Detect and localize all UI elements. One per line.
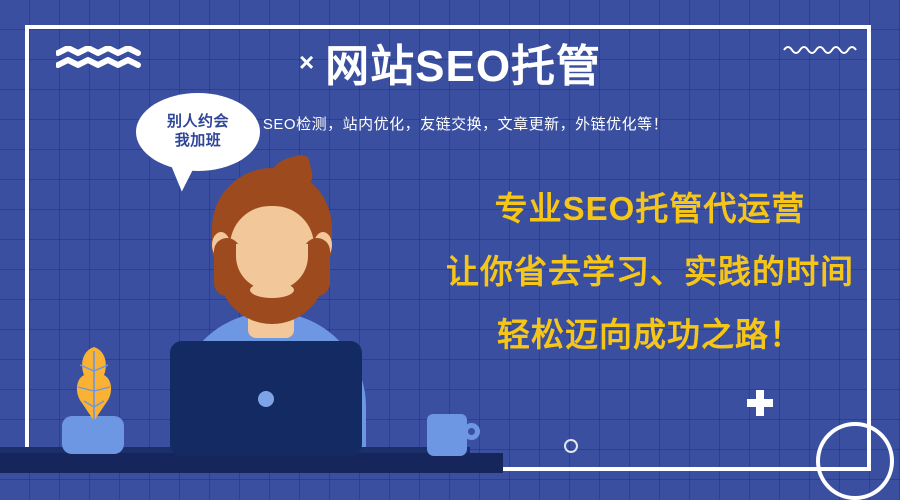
- person-mouth: [250, 282, 294, 298]
- potted-leaf-icon: [64, 345, 124, 430]
- laptop-logo-dot: [258, 391, 274, 407]
- corner-arc-wrapper: [810, 410, 900, 500]
- circle-outline-icon: [564, 439, 578, 453]
- corner-circle-icon: [816, 422, 894, 500]
- desk-surface: [0, 453, 503, 473]
- seo-poster: ×网站SEO托管 含：SEO检测，站内优化，友链交换，文章更新，外链优化等！ 别…: [0, 0, 900, 500]
- coffee-mug-icon: [427, 414, 467, 456]
- plus-icon: [747, 390, 773, 416]
